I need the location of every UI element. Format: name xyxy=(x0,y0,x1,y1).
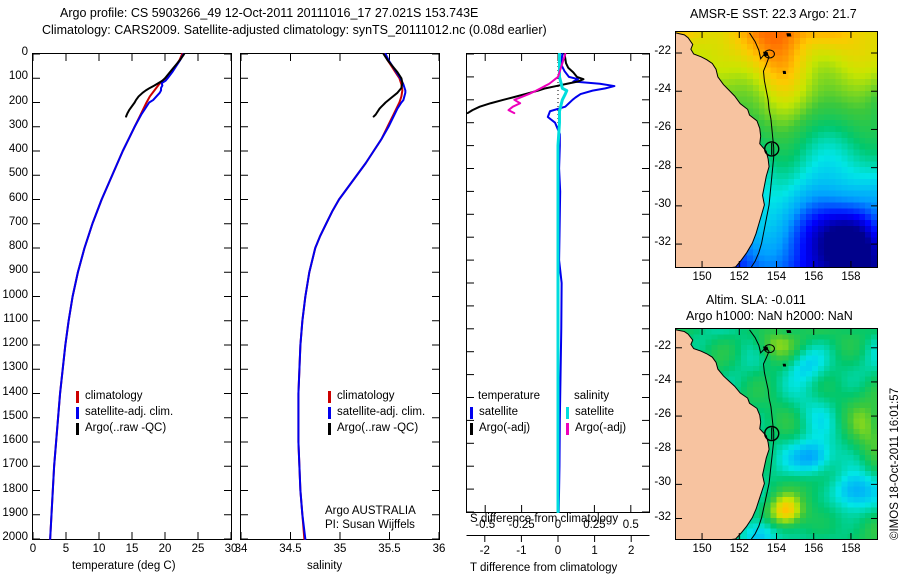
legend-label: satellite-adj. clim. xyxy=(337,406,425,418)
temperature-axis-label: temperature (deg C) xyxy=(72,560,176,572)
depth-tick-label: 800 xyxy=(9,240,28,252)
sla-map-title-line2: Argo h1000: NaN h2000: NaN xyxy=(686,309,853,323)
x-tick-label: 20 xyxy=(159,543,172,555)
depth-tick-label: 1600 xyxy=(2,434,28,446)
salinity-panel xyxy=(240,53,440,540)
salinity-satellite-swatch xyxy=(566,407,569,419)
sst-map-title: AMSR-E SST: 22.3 Argo: 21.7 xyxy=(690,7,857,21)
lon-tick-label: 156 xyxy=(804,543,823,555)
depth-tick-label: 700 xyxy=(9,216,28,228)
temperature-frame xyxy=(33,54,232,540)
t-tick-label: -2 xyxy=(480,545,490,557)
argo-profile-figure: Argo profile: CS 5903266_49 12-Oct-2011 … xyxy=(0,0,900,580)
depth-tick-label: 1300 xyxy=(2,361,28,373)
lon-tick-label: 156 xyxy=(804,271,823,283)
x-tick-label: 15 xyxy=(126,543,139,555)
depth-tick-label: 1900 xyxy=(2,507,28,519)
legend-label: Argo(-adj) xyxy=(575,422,626,434)
temperature-satellite-swatch xyxy=(470,407,473,419)
sla-map-canvas xyxy=(675,328,878,540)
temperature-plot-area xyxy=(32,53,232,540)
depth-tick-label: 600 xyxy=(9,192,28,204)
argo-australia-text: Argo AUSTRALIA xyxy=(325,505,416,517)
copyright-text: ©IMOS 18-Oct-2011 16:01:57 xyxy=(889,388,900,540)
x-tick-label: 0 xyxy=(30,543,36,555)
argo-raw-swatch xyxy=(328,423,331,435)
depth-tick-label: 2000 xyxy=(2,531,28,543)
sst-map-canvas xyxy=(675,31,878,268)
sla-map xyxy=(675,328,878,540)
lat-tick-label: -28 xyxy=(654,442,671,454)
x-tick-label: 5 xyxy=(63,543,69,555)
x-tick-label: 25 xyxy=(192,543,205,555)
argo-raw-swatch xyxy=(76,423,79,435)
x-tick-label: 34 xyxy=(235,543,248,555)
x-tick-label: 35.5 xyxy=(378,543,400,555)
legend-label: Argo(..raw -QC) xyxy=(337,422,418,434)
lat-tick-label: -22 xyxy=(654,340,671,352)
t-tick-label: 0 xyxy=(555,545,561,557)
legend-label: climatology xyxy=(85,390,143,402)
legend-label: satellite-adj. clim. xyxy=(85,406,173,418)
x-tick-label: 36 xyxy=(433,543,446,555)
legend-header-temperature: temperature xyxy=(478,390,540,402)
x-tick-label: 10 xyxy=(93,543,106,555)
temperature-panel xyxy=(32,53,232,540)
lat-tick-label: -26 xyxy=(654,121,671,133)
t-difference-axis-label: T difference from climatology xyxy=(470,562,617,574)
lon-tick-label: 154 xyxy=(767,543,786,555)
depth-tick-label: 1200 xyxy=(2,337,28,349)
salinity-plot-area xyxy=(240,53,440,540)
lat-tick-label: -32 xyxy=(654,236,671,248)
lat-tick-label: -26 xyxy=(654,408,671,420)
lon-tick-label: 158 xyxy=(841,271,860,283)
x-tick-label: 34.5 xyxy=(279,543,301,555)
depth-tick-label: 1700 xyxy=(2,458,28,470)
difference-plot-area xyxy=(466,53,650,513)
satellite-adj-swatch xyxy=(76,407,79,419)
depth-tick-label: 500 xyxy=(9,167,28,179)
lon-tick-label: 154 xyxy=(767,271,786,283)
difference-panel xyxy=(466,53,650,513)
legend-label: satellite xyxy=(479,406,518,418)
sst-map xyxy=(675,31,878,268)
pi-name-text: PI: Susan Wijffels xyxy=(325,519,415,531)
depth-tick-label: 300 xyxy=(9,119,28,131)
climatology-swatch xyxy=(76,391,79,403)
t-tick-label: 2 xyxy=(628,545,634,557)
lon-tick-label: 152 xyxy=(730,543,749,555)
sla-map-title-line1: Altim. SLA: -0.011 xyxy=(706,293,806,307)
legend-label: satellite xyxy=(575,406,614,418)
salinity-frame xyxy=(241,54,440,540)
lon-tick-label: 152 xyxy=(730,271,749,283)
salinity-axis-label: salinity xyxy=(307,560,342,572)
lat-tick-label: -28 xyxy=(654,160,671,172)
figure-title-line2: Climatology: CARS2009. Satellite-adjuste… xyxy=(42,23,547,37)
lon-tick-label: 150 xyxy=(692,271,711,283)
climatology-swatch xyxy=(328,391,331,403)
depth-tick-label: 1500 xyxy=(2,410,28,422)
difference-t-axis xyxy=(466,535,650,545)
salinity-argo-adj-swatch xyxy=(566,423,569,435)
figure-title-line1: Argo profile: CS 5903266_49 12-Oct-2011 … xyxy=(60,6,478,20)
t-tick-label: 1 xyxy=(591,545,597,557)
s-difference-axis-label: S difference from climatology xyxy=(470,513,618,525)
legend-header-salinity: salinity xyxy=(574,390,609,402)
depth-tick-label: 400 xyxy=(9,143,28,155)
depth-tick-label: 900 xyxy=(9,264,28,276)
lat-tick-label: -30 xyxy=(654,476,671,488)
legend-label: climatology xyxy=(337,390,395,402)
depth-tick-label: 1000 xyxy=(2,289,28,301)
temperature-argo-adj-swatch xyxy=(470,423,473,435)
lat-tick-label: -22 xyxy=(654,45,671,57)
lat-tick-label: -30 xyxy=(654,198,671,210)
depth-tick-label: 0 xyxy=(22,46,28,58)
depth-tick-label: 100 xyxy=(9,70,28,82)
lat-tick-label: -24 xyxy=(654,374,671,386)
s-tick-label: 0.5 xyxy=(623,519,639,531)
legend-label: Argo(-adj) xyxy=(479,422,530,434)
copyright-container: ©IMOS 18-Oct-2011 16:01:57 xyxy=(889,540,900,552)
depth-tick-label: 1400 xyxy=(2,386,28,398)
depth-tick-label: 1100 xyxy=(3,313,28,325)
x-tick-label: 35 xyxy=(334,543,347,555)
depth-tick-label: 200 xyxy=(9,95,28,107)
t-tick-label: -1 xyxy=(516,545,526,557)
lon-tick-label: 150 xyxy=(692,543,711,555)
t-axis-svg xyxy=(466,535,650,545)
lon-tick-label: 158 xyxy=(841,543,860,555)
legend-label: Argo(..raw -QC) xyxy=(85,422,166,434)
lat-tick-label: -32 xyxy=(654,511,671,523)
satellite-adj-swatch xyxy=(328,407,331,419)
lat-tick-label: -24 xyxy=(654,83,671,95)
t-axis-ticks xyxy=(485,536,631,543)
depth-tick-label: 1800 xyxy=(2,483,28,495)
